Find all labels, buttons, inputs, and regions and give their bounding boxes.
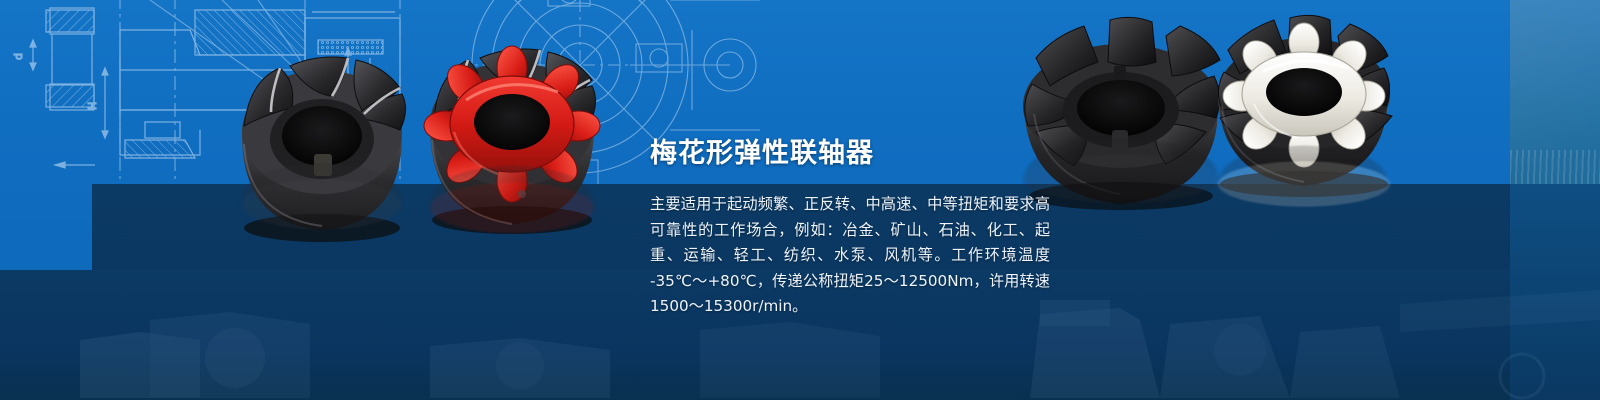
- horizon-band-right: [1510, 184, 1600, 400]
- page-title: 梅花形弹性联轴器: [650, 138, 1070, 170]
- banner-description: 主要适用于起动频繁、正反转、中高速、中等扭矩和要求高可靠性的工作场合，例如：冶金…: [650, 192, 1050, 320]
- product-banner: d D: [0, 0, 1600, 400]
- banner-text-block: 梅花形弹性联轴器 主要适用于起动频繁、正反转、中高速、中等扭矩和要求高可靠性的工…: [650, 138, 1070, 320]
